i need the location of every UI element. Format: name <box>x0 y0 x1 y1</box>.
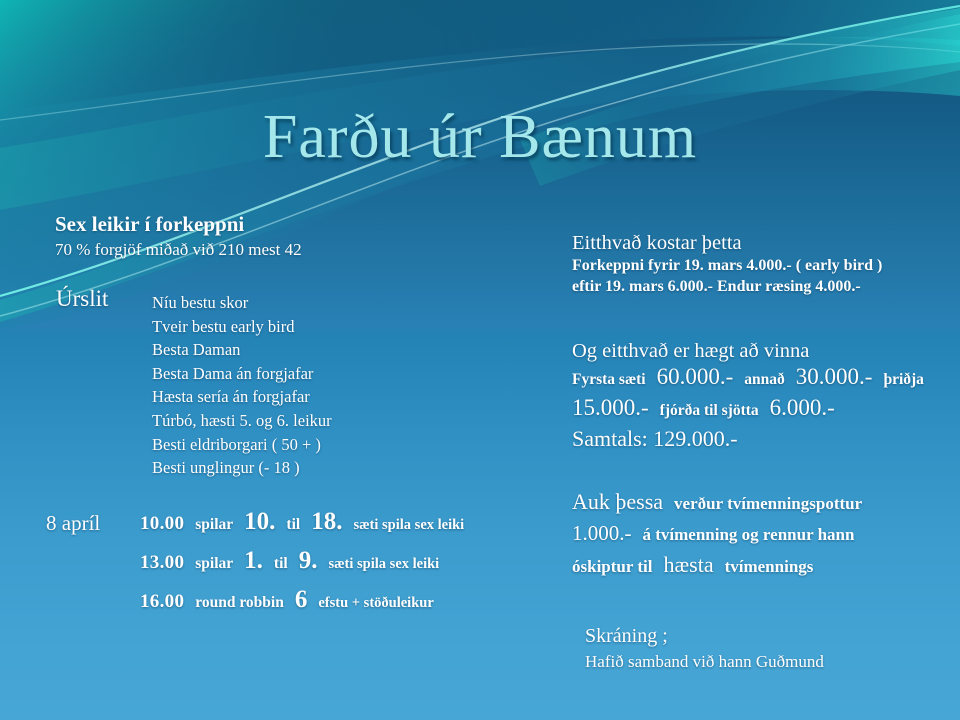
schedule-tail: sæti spila sex leiki <box>328 556 439 572</box>
prizes-line: Fyrsta sæti 60.000.- annað 30.000.- þrið… <box>572 363 952 394</box>
extra-line: 1.000.- á tvímenning og rennur hann <box>572 519 952 550</box>
schedule-row: 10.00 spilar 10. til 18. sæti spila sex … <box>140 508 471 547</box>
list-item: Túrbó, hæsti 5. og 6. leikur <box>152 409 332 433</box>
prizes-total: Samtals: 129.000.- <box>572 425 952 453</box>
extra-line3-b: tvímennings <box>725 557 814 576</box>
schedule-conn: til <box>274 555 288 572</box>
schedule-to: 9. <box>299 547 318 574</box>
left-subheading: 70 % forgjöf miðað við 210 mest 42 <box>55 240 302 260</box>
schedule-from: 6 <box>295 586 308 613</box>
schedule-verb: spilar <box>195 555 233 572</box>
registration-contact: Hafið samband við hann Guðmund <box>585 652 824 672</box>
presentation-slide: Farðu úr Bænum Sex leikir í forkeppni 70… <box>0 0 960 720</box>
schedule-rows: 10.00 spilar 10. til 18. sæti spila sex … <box>140 508 471 625</box>
prizes-block: Og eitthvað er hægt að vinna Fyrsta sæti… <box>572 340 952 453</box>
pricing-line: Forkeppni fyrir 19. mars 4.000.- ( early… <box>572 255 952 276</box>
schedule-from: 10. <box>244 508 275 535</box>
prize-amount-third: 15.000.- <box>572 395 649 420</box>
extra-amount: 1.000.- <box>572 521 632 545</box>
prizes-line: 15.000.- fjórða til sjötta 6.000.- <box>572 394 952 425</box>
list-item: Besta Dama án forgjafar <box>152 362 332 386</box>
list-item: Besti eldriborgari ( 50 + ) <box>152 433 332 457</box>
registration-block: Skráning ; Hafið samband við hann Guðmun… <box>585 625 824 672</box>
prize-rank-first: Fyrsta sæti <box>572 371 646 388</box>
schedule-tail: sæti spila sex leiki <box>353 517 464 533</box>
extra-line3-a: óskiptur til <box>572 557 652 576</box>
schedule-row: 16.00 round robbin 6 efstu + stöðuleikur <box>140 586 471 625</box>
schedule-from: 1. <box>244 547 263 574</box>
schedule-tail: efstu + stöðuleikur <box>318 595 433 611</box>
prize-rank-third: þriðja <box>883 371 923 388</box>
extra-line2-tail: á tvímenning og rennur hann <box>643 525 855 544</box>
pricing-line: eftir 19. mars 6.000.- Endur ræsing 4.00… <box>572 276 952 297</box>
registration-heading: Skráning ; <box>585 625 824 648</box>
prize-amount-second: 30.000.- <box>796 364 873 389</box>
prizes-heading: Og eitthvað er hægt að vinna <box>572 340 952 363</box>
schedule-conn: til <box>286 516 300 533</box>
extra-line: Auk þessa verður tvímenningspottur <box>572 487 952 519</box>
schedule-date: 8 apríl <box>46 511 100 536</box>
extra-line: óskiptur til hæsta tvímennings <box>572 550 952 582</box>
schedule-to: 18. <box>311 508 342 535</box>
slide-title: Farðu úr Bænum <box>0 106 960 168</box>
schedule-row: 13.00 spilar 1. til 9. sæti spila sex le… <box>140 547 471 586</box>
pricing-heading: Eitthvað kostar þetta <box>572 232 952 255</box>
extra-lead-tail: verður tvímenningspottur <box>674 494 862 513</box>
prize-rank-fourth-sixth: fjórða til sjötta <box>660 402 759 419</box>
list-item: Hæsta sería án forgjafar <box>152 385 332 409</box>
schedule-verb: round robbin <box>195 594 284 611</box>
list-item: Níu bestu skor <box>152 291 332 315</box>
extra-line3-emphasis: hæsta <box>663 552 713 577</box>
schedule-time: 10.00 <box>140 513 184 534</box>
pricing-block: Eitthvað kostar þetta Forkeppni fyrir 19… <box>572 232 952 297</box>
extra-pot-block: Auk þessa verður tvímenningspottur 1.000… <box>572 487 952 582</box>
list-item: Tveir bestu early bird <box>152 315 332 339</box>
schedule-verb: spilar <box>195 516 233 533</box>
prize-amount-fourth-sixth: 6.000.- <box>770 395 835 420</box>
list-item: Besti unglingur (- 18 ) <box>152 456 332 480</box>
schedule-time: 16.00 <box>140 591 184 612</box>
results-list: Níu bestu skor Tveir bestu early bird Be… <box>152 291 332 480</box>
schedule-time: 13.00 <box>140 552 184 573</box>
prize-amount-first: 60.000.- <box>657 364 734 389</box>
left-heading: Sex leikir í forkeppni <box>55 212 244 237</box>
extra-lead: Auk þessa <box>572 489 663 514</box>
list-item: Besta Daman <box>152 338 332 362</box>
results-label: Úrslit <box>56 286 108 312</box>
prize-rank-second: annað <box>744 371 785 388</box>
